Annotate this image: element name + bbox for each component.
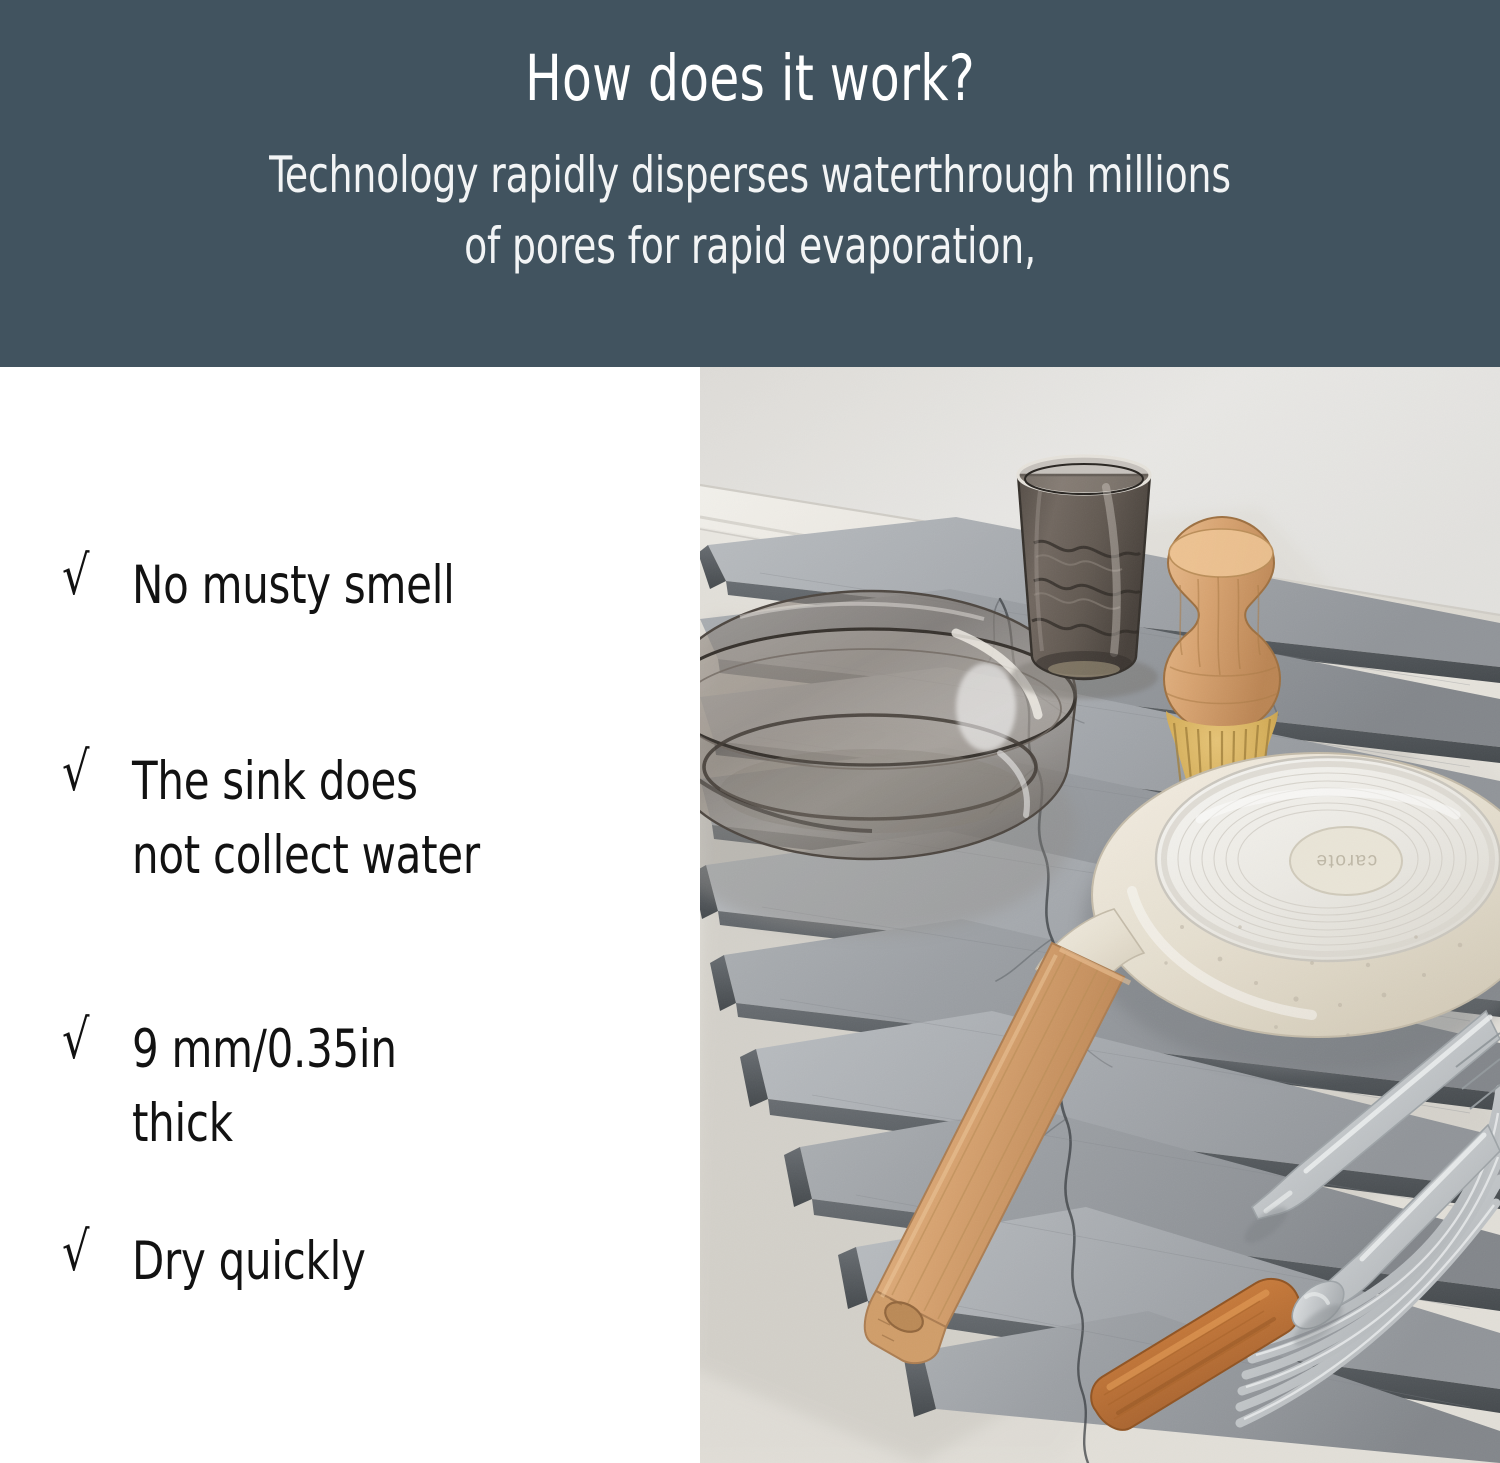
product-photo-illustration: carote xyxy=(700,367,1500,1463)
product-photo: carote xyxy=(700,367,1500,1463)
feature-item-no-musty-smell: √ No musty smell xyxy=(62,549,682,623)
page-title: How does it work? xyxy=(105,46,1395,112)
feature-label: Dry quickly xyxy=(132,1225,616,1299)
page-subtitle: Technology rapidly disperses waterthroug… xyxy=(254,140,1245,282)
feature-item-sink-does-not-collect-water: √ The sink does not collect water xyxy=(62,745,682,893)
feature-label: The sink does not collect water xyxy=(132,745,616,893)
feature-item-thickness: √ 9 mm/0.35in thick xyxy=(62,1013,682,1161)
checkmark-icon: √ xyxy=(62,1013,118,1067)
feature-item-dry-quickly: √ Dry quickly xyxy=(62,1225,682,1299)
checkmark-icon: √ xyxy=(62,745,118,799)
header-band: How does it work? Technology rapidly dis… xyxy=(0,0,1500,367)
checkmark-icon: √ xyxy=(62,549,118,603)
feature-list: √ No musty smell √ The sink does not col… xyxy=(0,367,700,1463)
infographic-page: How does it work? Technology rapidly dis… xyxy=(0,0,1500,1463)
checkmark-icon: √ xyxy=(62,1225,118,1279)
feature-label: No musty smell xyxy=(132,549,616,623)
feature-label: 9 mm/0.35in thick xyxy=(132,1013,616,1161)
